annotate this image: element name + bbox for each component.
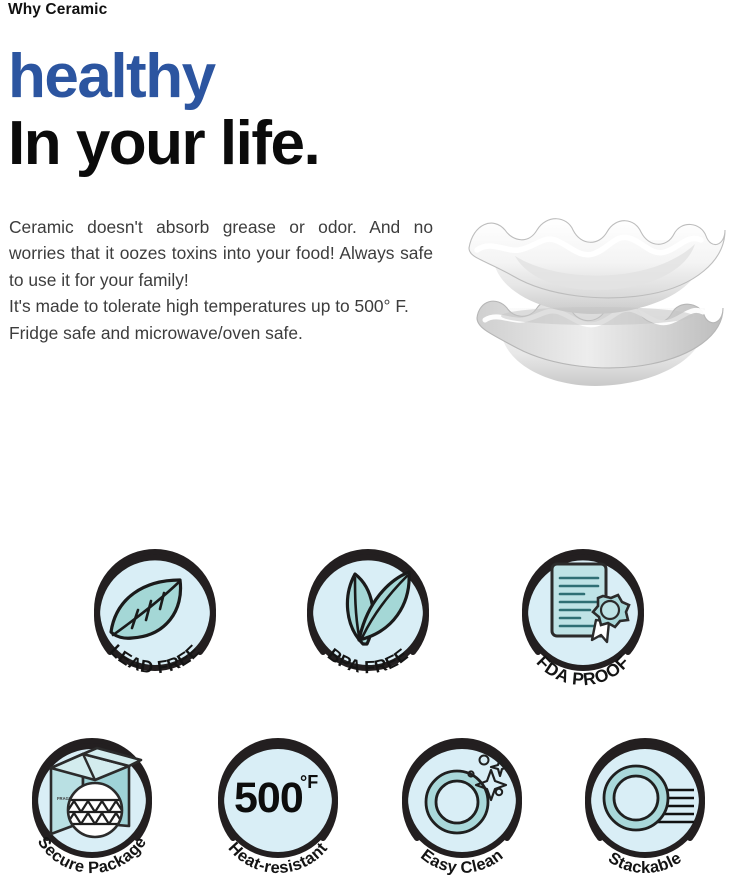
body-copy: Ceramic doesn't absorb grease or odor. A…: [9, 214, 433, 346]
page-eyebrow: Why Ceramic: [8, 1, 107, 19]
product-photo: [455, 196, 730, 396]
badge-easy-clean: Easy Clean: [387, 730, 537, 880]
page-title: In your life.: [8, 113, 319, 175]
temperature-unit: °F: [300, 772, 318, 792]
badge-heat-resistant: 500 °F Heat-resistant: [203, 730, 353, 880]
body-paragraph-2: It's made to tolerate high temperatures …: [9, 293, 433, 346]
headline-accent: healthy: [8, 46, 215, 108]
badge-lead-free: LEAD FREE: [80, 540, 230, 690]
badge-stackable: Stackable: [570, 730, 720, 880]
badge-fda-proof: FDA PROOF: [508, 540, 658, 690]
product-feature-page: Why Ceramic healthy In your life. Cerami…: [0, 0, 735, 879]
badge-secure-package: FRAGILE Secure Package: [17, 730, 167, 880]
body-paragraph-1: Ceramic doesn't absorb grease or odor. A…: [9, 214, 433, 293]
temperature-value: 500: [234, 774, 303, 822]
box-icon: FRAGILE: [51, 748, 141, 837]
badge-bpa-free: BPA FREE: [293, 540, 443, 690]
